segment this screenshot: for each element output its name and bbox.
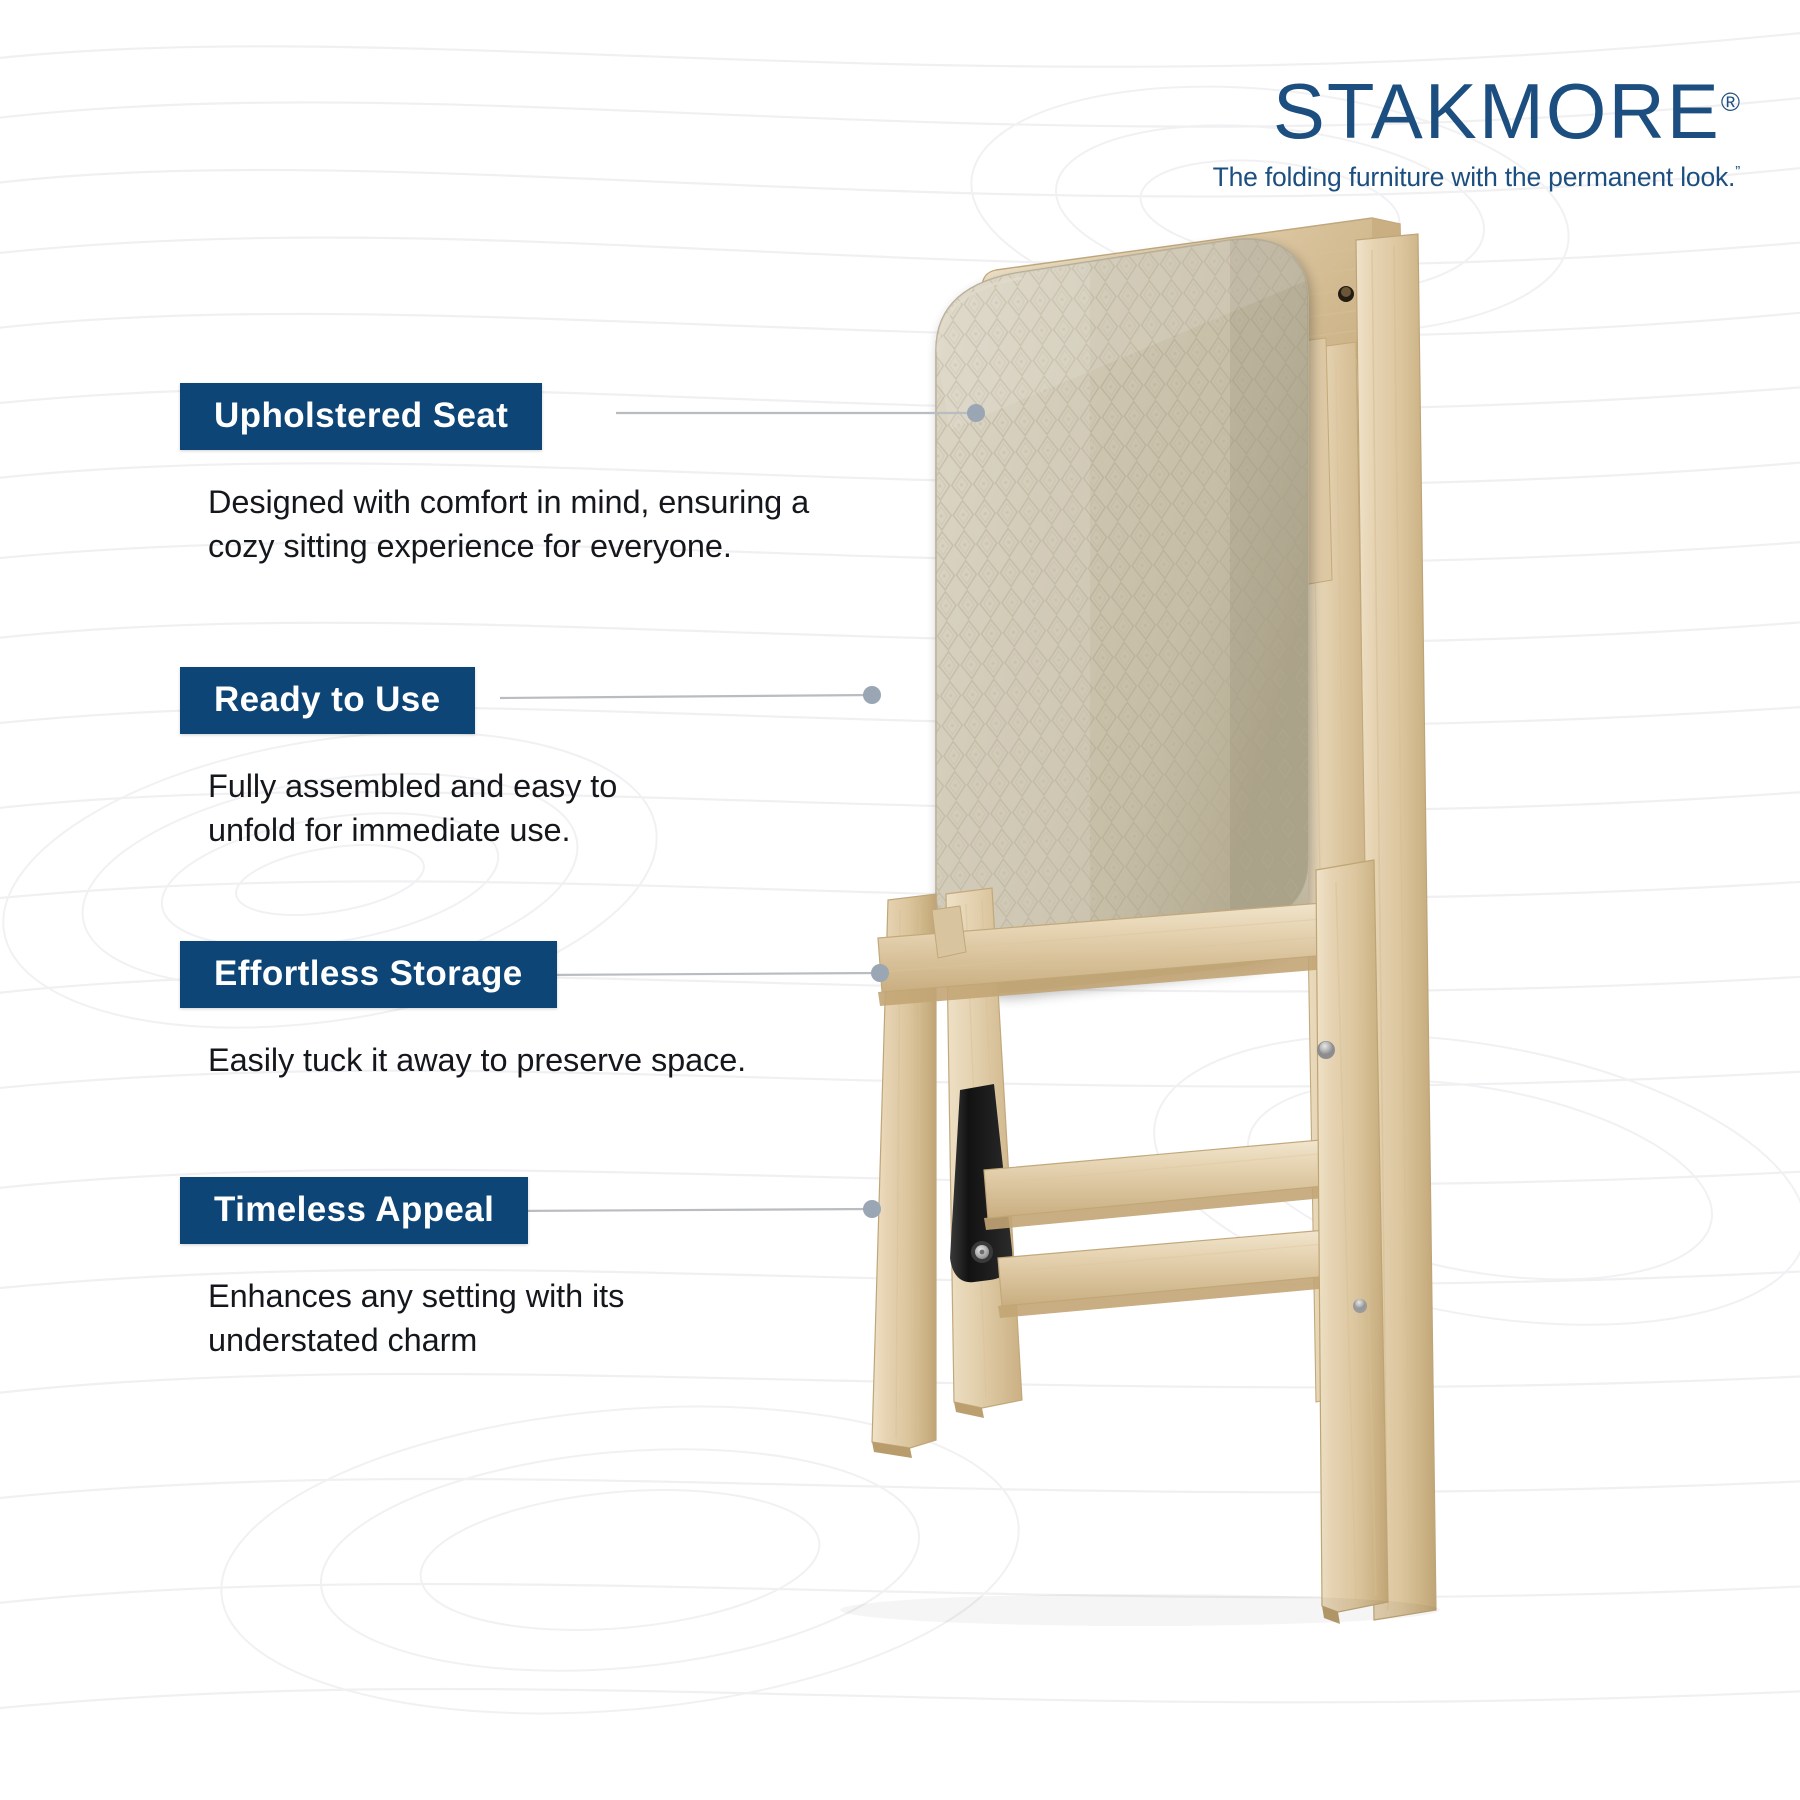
brand-wordmark: STAKMORE® bbox=[1273, 72, 1740, 150]
feature-badge-effortless-storage[interactable]: Effortless Storage bbox=[180, 941, 557, 1008]
feature-body-upholstered-seat: Designed with comfort in mind, ensuring … bbox=[208, 480, 809, 568]
brand-tagline-text: The folding furniture with the permanent… bbox=[1213, 162, 1736, 192]
feature-body-effortless-storage: Easily tuck it away to preserve space. bbox=[208, 1038, 746, 1082]
feature-block-timeless-appeal: Timeless Appeal Enhances any setting wit… bbox=[180, 1177, 624, 1362]
chair-upholstered-seat bbox=[910, 220, 1340, 993]
chair-seat-hinge bbox=[932, 906, 966, 958]
feature-body-ready-to-use: Fully assembled and easy to unfold for i… bbox=[208, 764, 617, 852]
feature-block-upholstered-seat: Upholstered Seat Designed with comfort i… bbox=[180, 383, 809, 568]
feature-badge-ready-to-use[interactable]: Ready to Use bbox=[180, 667, 475, 734]
infographic-canvas: STAKMORE® The folding furniture with the… bbox=[0, 0, 1800, 1800]
registered-trademark-icon: ® bbox=[1721, 87, 1740, 117]
chair-stretcher-middle bbox=[984, 1140, 1324, 1230]
feature-body-timeless-appeal: Enhances any setting with its understate… bbox=[208, 1274, 624, 1362]
brand-wordmark-text: STAKMORE bbox=[1273, 67, 1721, 155]
brand-logo: STAKMORE® The folding furniture with the… bbox=[1213, 72, 1740, 193]
feature-badge-timeless-appeal[interactable]: Timeless Appeal bbox=[180, 1177, 528, 1244]
feature-badge-upholstered-seat[interactable]: Upholstered Seat bbox=[180, 383, 542, 450]
chair-stretcher-bottom bbox=[998, 1230, 1330, 1318]
feature-block-ready-to-use: Ready to Use Fully assembled and easy to… bbox=[180, 667, 617, 852]
trademark-icon: ” bbox=[1735, 163, 1740, 180]
brand-tagline: The folding furniture with the permanent… bbox=[1213, 162, 1740, 193]
feature-block-effortless-storage: Effortless Storage Easily tuck it away t… bbox=[180, 941, 746, 1082]
product-image-folding-chair bbox=[760, 210, 1560, 1630]
